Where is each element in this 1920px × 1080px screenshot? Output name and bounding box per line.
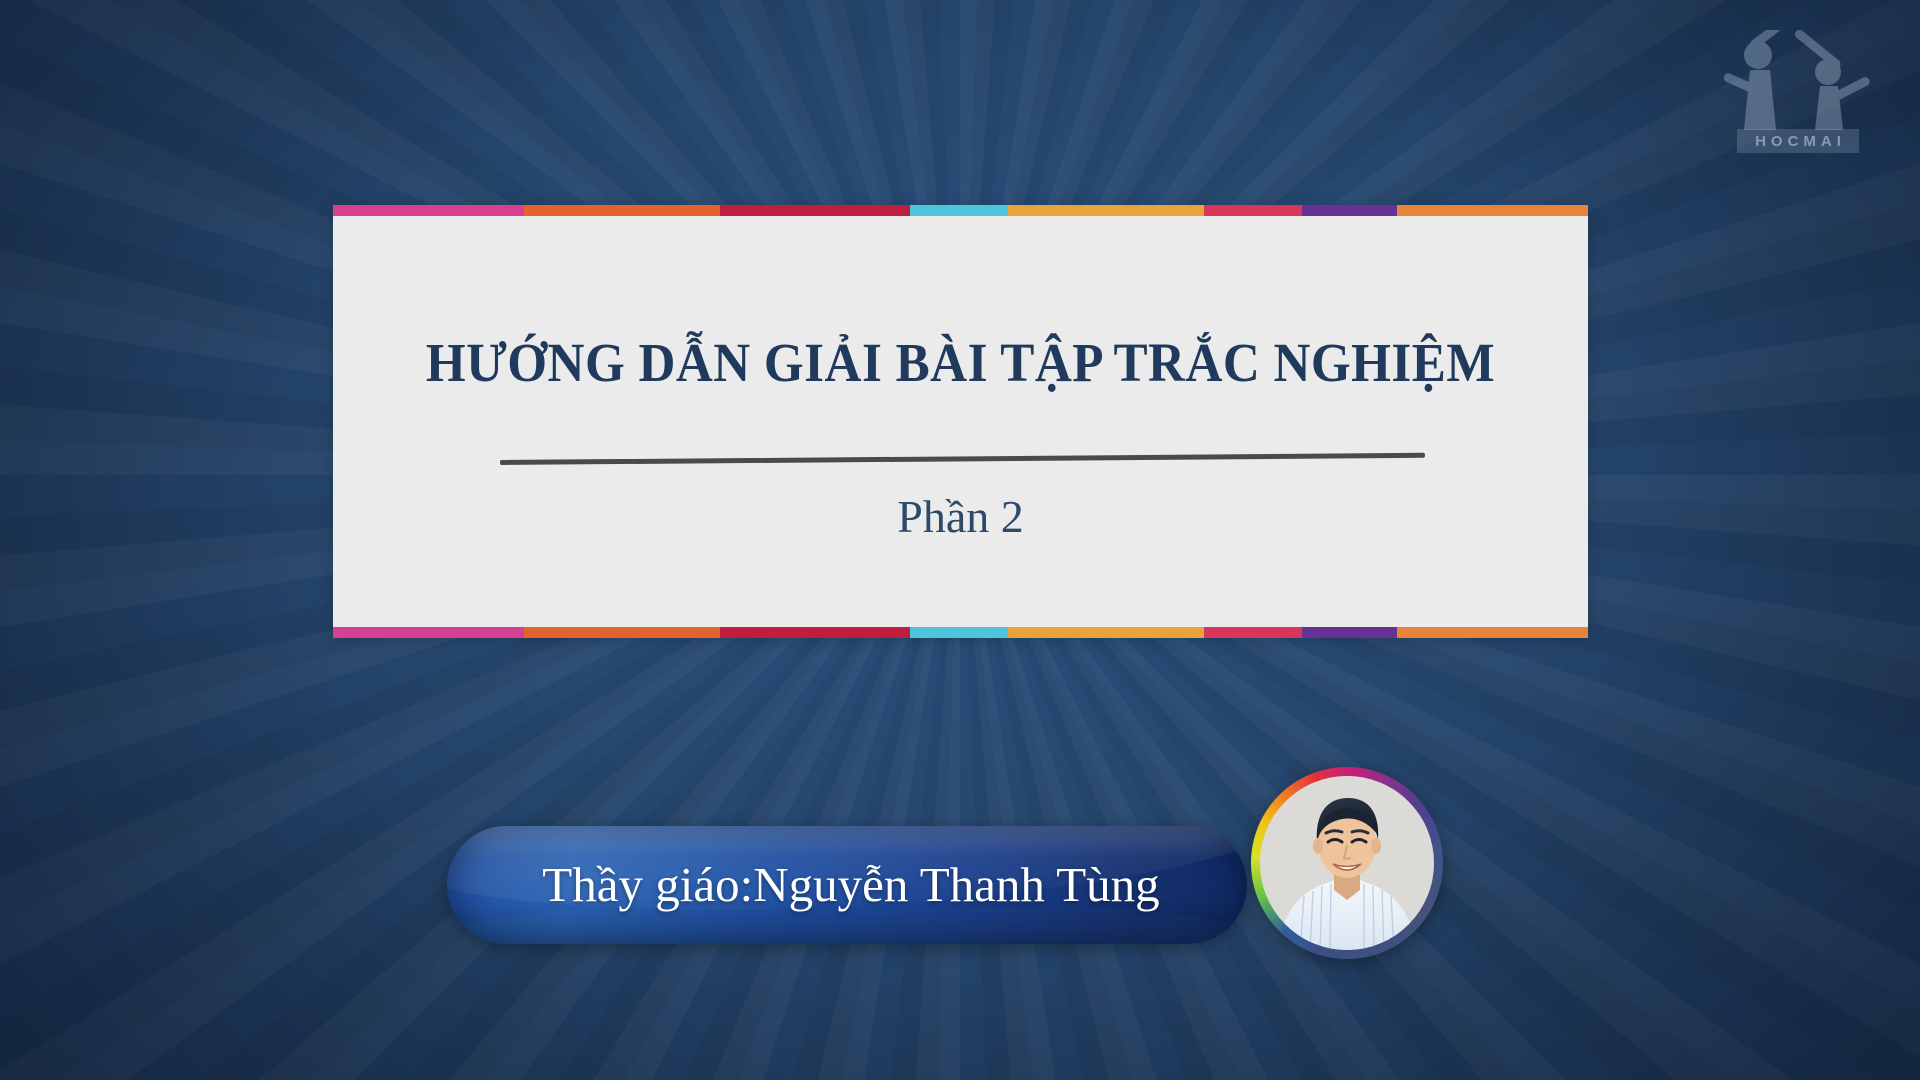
presenter-name: Thầy giáo:Nguyễn Thanh Tùng — [447, 826, 1247, 944]
stripe-segment — [524, 627, 720, 638]
title-card-content: HƯỚNG DẪN GIẢI BÀI TẬP TRẮC NGHIỆM Phần … — [333, 216, 1588, 627]
stripe-segment — [720, 205, 911, 216]
stripe-segment — [1302, 205, 1397, 216]
stripe-segment — [720, 627, 911, 638]
presenter-avatar-ring — [1251, 767, 1443, 959]
stripe-segment — [910, 205, 1008, 216]
hocmai-wordmark-text: HOCMAI — [1750, 133, 1846, 150]
page-subtitle: Phần 2 — [333, 490, 1588, 543]
page-title: HƯỚNG DẪN GIẢI BÀI TẬP TRẮC NGHIỆM — [377, 331, 1544, 394]
stripe-segment — [333, 627, 524, 638]
avatar — [1260, 776, 1434, 950]
stripe-segment — [524, 205, 720, 216]
stripe-segment — [910, 627, 1008, 638]
stripe-segment — [1204, 627, 1302, 638]
stripe-segment — [1008, 627, 1204, 638]
presenter-banner: Thầy giáo:Nguyễn Thanh Tùng — [447, 826, 1247, 944]
stripe-segment — [1008, 205, 1204, 216]
title-card: HƯỚNG DẪN GIẢI BÀI TẬP TRẮC NGHIỆM Phần … — [333, 205, 1588, 638]
stripe-segment — [1397, 205, 1588, 216]
slide-root: HOCMAI HƯỚNG DẪN GIẢI BÀI TẬP TRẮC NGHIỆ… — [0, 0, 1920, 1080]
title-underline — [500, 453, 1425, 465]
card-stripe-top — [333, 205, 1588, 216]
stripe-segment — [1302, 627, 1397, 638]
card-stripe-bottom — [333, 627, 1588, 638]
stripe-segment — [1204, 205, 1302, 216]
hocmai-wordmark: HOCMAI — [1737, 129, 1859, 153]
stripe-segment — [1397, 627, 1588, 638]
stripe-segment — [333, 205, 524, 216]
